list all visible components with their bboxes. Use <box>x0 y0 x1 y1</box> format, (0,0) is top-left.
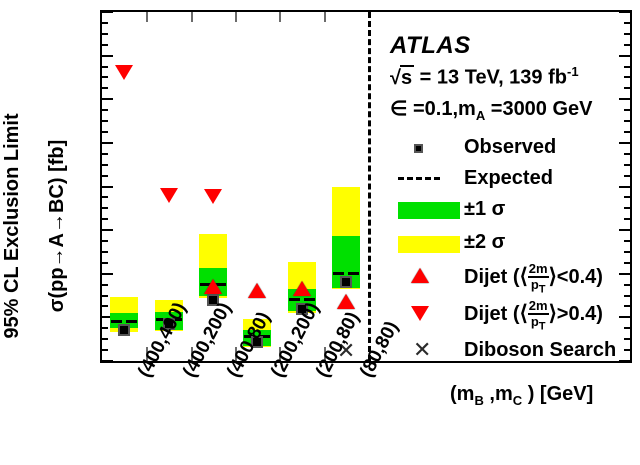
expected-limit-marker <box>289 298 300 301</box>
observed-limit-marker <box>251 336 263 348</box>
y-tick-minor <box>102 44 108 46</box>
y-tick-minor <box>102 305 108 307</box>
legend-dijet-high-post: >0.4) <box>557 303 603 325</box>
y-tick-minor <box>102 284 108 286</box>
x-bin-divider <box>324 347 326 361</box>
legend-label-expected: Expected <box>464 167 553 190</box>
observed-limit-marker <box>207 294 219 306</box>
dijet-low-ratio-marker <box>204 279 222 294</box>
model-params-post: =3000 GeV <box>485 98 592 120</box>
x-bin-divider-top <box>191 12 193 22</box>
y-tick-minor <box>102 109 108 111</box>
x-axis-title-mid: ,m <box>484 383 513 405</box>
legend-marker-expected <box>398 177 440 180</box>
model-params-pre: ∈ =0.1,m <box>390 98 476 120</box>
y-tick-minor-right <box>624 76 630 78</box>
y-axis-title-line2: σ(pp→A→BC) [fb] <box>46 46 68 406</box>
y-tick-minor <box>102 76 108 78</box>
x-axis-title-sub2: C <box>513 393 522 408</box>
legend-dijet-high-den-sub: T <box>539 320 546 332</box>
energy-lumi-text: = 13 TeV, 139 fb <box>414 67 567 89</box>
observed-limit-marker <box>296 303 308 315</box>
plot-area: ✕ ATLAS √s = 13 TeV, 139 fb-1 ∈ =0.1,mA … <box>100 10 632 363</box>
dijet-high-ratio-marker <box>204 189 222 204</box>
lumi-exponent: -1 <box>567 64 579 79</box>
energy-lumi-line: √s = 13 TeV, 139 fb-1 <box>390 64 579 90</box>
legend-dijet-low-angle-close: ⟩ <box>549 265 557 288</box>
y-tick-minor <box>102 251 108 253</box>
x-bin-divider <box>146 347 148 361</box>
y-tick-minor <box>102 131 108 133</box>
y-tick-minor <box>102 327 108 329</box>
y-tick-minor-right <box>624 87 630 89</box>
legend-dijet-low-fraction: 2mpT <box>528 262 549 296</box>
legend-dijet-low-den-p: p <box>531 277 539 292</box>
x-axis-title-post: ) [GeV] <box>522 383 593 405</box>
y-tick-minor <box>102 207 108 209</box>
legend-dijet-high-angle-open: ⟨ <box>520 302 528 325</box>
y-tick-minor <box>102 262 108 264</box>
y-axis-title-line1: 95% CL Exclusion Limit <box>1 46 23 406</box>
legend-marker-dijet-high <box>411 306 429 321</box>
legend-label-observed: Observed <box>464 136 556 159</box>
legend-dijet-high-pre: Dijet ( <box>464 303 520 325</box>
y-tick-major-right <box>619 360 630 362</box>
x-bin-divider <box>191 347 193 361</box>
model-params-sub: A <box>476 108 485 123</box>
y-tick-minor <box>102 66 108 68</box>
x-axis-title-pre: (m <box>450 383 474 405</box>
y-tick-minor <box>102 87 108 89</box>
y-tick-major <box>102 142 113 144</box>
legend-dijet-low-pre: Dijet ( <box>464 266 520 288</box>
legend-label-diboson: Diboson Search <box>464 339 616 362</box>
y-tick-minor <box>102 295 108 297</box>
y-tick-minor-right <box>624 349 630 351</box>
chart-root: 95% CL Exclusion Limit σ(pp→A→BC) [fb] 0… <box>0 0 640 465</box>
legend-dijet-low-den-sub: T <box>539 283 546 295</box>
model-params-line: ∈ =0.1,mA =3000 GeV <box>390 96 593 123</box>
y-tick-minor <box>102 164 108 166</box>
legend-marker-dijet-low <box>411 268 429 283</box>
legend-label-dijet-high: Dijet (⟨2mpT⟩>0.4) <box>464 299 603 333</box>
legend-label-1sigma: ±1 σ <box>464 198 505 221</box>
y-tick-major-right <box>619 98 630 100</box>
x-bin-divider-top <box>146 12 148 22</box>
y-tick-minor-right <box>624 109 630 111</box>
legend-dijet-low-num: 2m <box>528 262 549 278</box>
x-axis-title-sub1: B <box>474 393 483 408</box>
expected-limit-marker <box>304 298 315 301</box>
y-tick-major <box>102 360 113 362</box>
y-tick-minor-right <box>624 22 630 24</box>
y-tick-major <box>102 229 113 231</box>
y-tick-minor-right <box>624 120 630 122</box>
legend-dijet-high-den: pT <box>528 315 549 333</box>
y-tick-minor <box>102 175 108 177</box>
y-tick-major <box>102 186 113 188</box>
atlas-label: ATLAS <box>390 32 471 60</box>
x-bin-divider-top <box>235 12 237 22</box>
x-bin-divider-top <box>279 12 281 22</box>
y-tick-minor <box>102 218 108 220</box>
observed-limit-marker <box>340 276 352 288</box>
legend-dijet-low-angle-open: ⟨ <box>520 265 528 288</box>
observed-limit-marker <box>163 318 175 330</box>
legend-dijet-high-num: 2m <box>528 299 549 315</box>
dijet-low-ratio-marker <box>293 281 311 296</box>
y-tick-minor-right <box>624 33 630 35</box>
region-divider-dashed-line <box>368 12 371 361</box>
dijet-low-ratio-marker <box>248 283 266 298</box>
observed-limit-marker <box>118 324 130 336</box>
x-bin-divider <box>235 347 237 361</box>
x-bin-divider-top <box>324 12 326 22</box>
legend-label-2sigma: ±2 σ <box>464 231 505 254</box>
expected-limit-marker <box>333 272 344 275</box>
y-tick-major <box>102 11 113 13</box>
expected-limit-marker <box>348 272 359 275</box>
dijet-high-ratio-marker <box>115 65 133 80</box>
y-tick-major-right <box>619 55 630 57</box>
y-tick-minor <box>102 338 108 340</box>
legend-dijet-high-den-p: p <box>531 314 539 329</box>
dijet-low-ratio-marker <box>337 294 355 309</box>
sqrt-s-arg: s <box>400 65 414 89</box>
legend-marker-1sigma <box>398 202 460 219</box>
y-tick-minor <box>102 120 108 122</box>
y-tick-minor <box>102 240 108 242</box>
expected-limit-marker <box>111 320 122 323</box>
y-tick-minor <box>102 22 108 24</box>
y-axis-title: 95% CL Exclusion Limit σ(pp→A→BC) [fb] <box>0 46 91 406</box>
sqrt-symbol: √s <box>390 67 414 90</box>
dijet-high-ratio-marker <box>160 188 178 203</box>
y-tick-minor-right <box>624 66 630 68</box>
y-tick-minor-right <box>624 44 630 46</box>
x-axis-title: (mB ,mC ) [GeV] <box>450 383 593 408</box>
legend-dijet-low-den: pT <box>528 278 549 296</box>
legend-label-dijet-low: Dijet (⟨2mpT⟩<0.4) <box>464 262 603 296</box>
x-bin-divider <box>279 347 281 361</box>
y-tick-minor <box>102 33 108 35</box>
y-tick-major <box>102 273 113 275</box>
y-tick-major <box>102 55 113 57</box>
legend-marker-2sigma <box>398 236 460 253</box>
legend-dijet-low-post: <0.4) <box>557 266 603 288</box>
y-tick-minor <box>102 153 108 155</box>
legend-dijet-high-fraction: 2mpT <box>528 299 549 333</box>
y-tick-major-right <box>619 11 630 13</box>
y-tick-minor <box>102 196 108 198</box>
y-tick-minor <box>102 349 108 351</box>
legend-marker-observed <box>414 144 423 153</box>
y-tick-major <box>102 98 113 100</box>
y-tick-minor-right <box>624 131 630 133</box>
expected-limit-marker <box>126 320 137 323</box>
legend: ✕ Observed Expected ±1 σ ±2 σ Dijet (⟨2m… <box>390 134 630 349</box>
legend-dijet-high-angle-close: ⟩ <box>549 302 557 325</box>
